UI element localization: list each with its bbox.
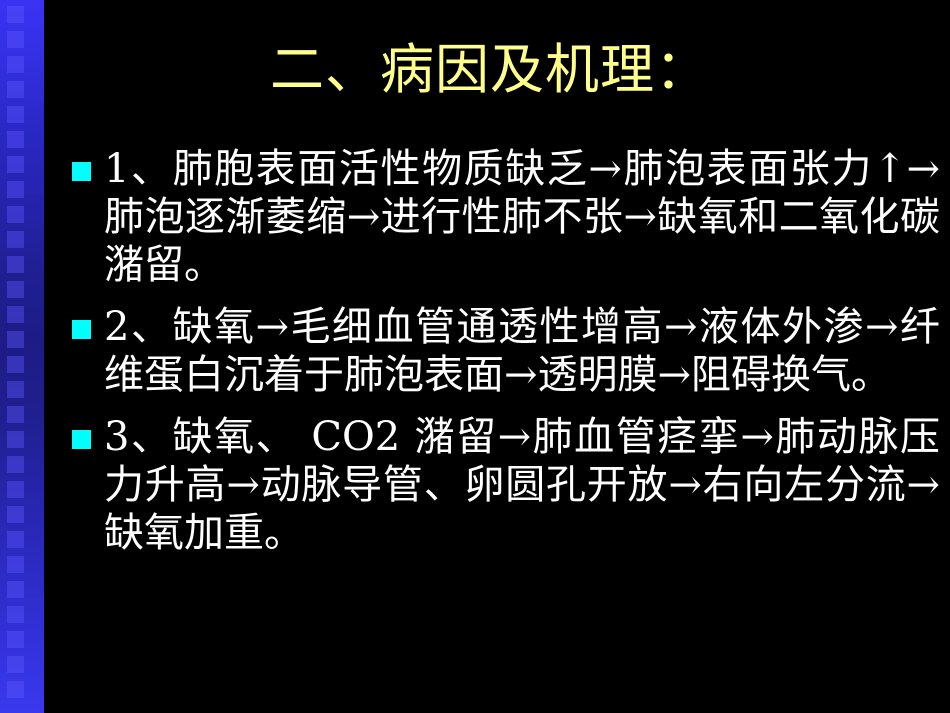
band-square-decoration [7, 231, 24, 248]
band-square-decoration [7, 156, 24, 173]
band-square-decoration [7, 456, 24, 473]
band-square-decoration [7, 406, 24, 423]
band-square-decoration [7, 681, 24, 698]
band-square-decoration [7, 6, 24, 23]
band-square-decoration [7, 581, 24, 598]
band-square-decoration [7, 331, 24, 348]
band-square-decoration [7, 281, 24, 298]
band-square-decoration [7, 481, 24, 498]
square-bullet-icon [72, 320, 91, 339]
band-square-decoration [7, 356, 24, 373]
band-square-decoration [7, 506, 24, 523]
presentation-slide: 二、病因及机理： 1、肺胞表面活性物质缺乏→肺泡表面张力↑→肺泡逐渐萎缩→进行性… [0, 0, 950, 713]
bullet-item-2-text: 2、缺氧→毛细血管通透性增高→液体外渗→纤维蛋白沉着于肺泡表面→透明膜→阻碍换气… [60, 303, 940, 399]
band-square-decoration [7, 256, 24, 273]
band-square-decoration [7, 306, 24, 323]
bullet-item-1: 1、肺胞表面活性物质缺乏→肺泡表面张力↑→肺泡逐渐萎缩→进行性肺不张→缺氧和二氧… [60, 145, 940, 289]
slide-body: 1、肺胞表面活性物质缺乏→肺泡表面张力↑→肺泡逐渐萎缩→进行性肺不张→缺氧和二氧… [60, 145, 940, 571]
left-decorative-band [0, 0, 44, 713]
bullet-item-1-text: 1、肺胞表面活性物质缺乏→肺泡表面张力↑→肺泡逐渐萎缩→进行性肺不张→缺氧和二氧… [60, 145, 940, 289]
band-square-decoration [7, 531, 24, 548]
band-square-decoration [7, 656, 24, 673]
bullet-item-3: 3、缺氧、 CO2 潴留→肺血管痉挛→肺动脉压力升高→动脉导管、卵圆孔开放→右向… [60, 413, 940, 557]
band-square-decoration [7, 381, 24, 398]
band-square-decoration [7, 631, 24, 648]
band-square-decoration [7, 606, 24, 623]
square-bullet-icon [72, 162, 91, 181]
bullet-item-2: 2、缺氧→毛细血管通透性增高→液体外渗→纤维蛋白沉着于肺泡表面→透明膜→阻碍换气… [60, 303, 940, 399]
band-square-decoration [7, 431, 24, 448]
band-square-decoration [7, 556, 24, 573]
band-square-decoration [7, 131, 24, 148]
slide-title: 二、病因及机理： [0, 42, 950, 99]
band-square-decoration [7, 206, 24, 223]
band-square-decoration [7, 181, 24, 198]
band-square-decoration [7, 106, 24, 123]
bullet-item-3-text: 3、缺氧、 CO2 潴留→肺血管痉挛→肺动脉压力升高→动脉导管、卵圆孔开放→右向… [60, 413, 940, 557]
square-bullet-icon [72, 430, 91, 449]
